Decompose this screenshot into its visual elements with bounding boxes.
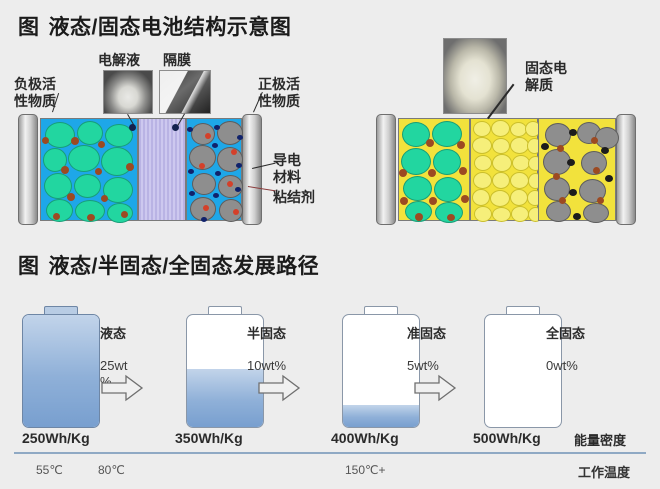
electrolyte-label: 电解液 xyxy=(98,52,140,69)
liquid-cell-diagram xyxy=(18,118,263,221)
battery-name: 液态 xyxy=(100,326,144,342)
temperature-value-1: 55℃ xyxy=(36,463,63,477)
solid-anode-current-collector xyxy=(376,114,396,225)
binder-label: 粘结剂 xyxy=(273,189,315,206)
battery-shell xyxy=(22,314,100,428)
section2-title: 图液态/半固态/全固态发展路径 xyxy=(18,250,319,280)
solid-electrolyte-label: 固态电 解质 xyxy=(525,60,567,94)
section1-title-text: 液态/固态电池结构示意图 xyxy=(49,16,292,39)
arrow-right-icon xyxy=(257,374,301,402)
battery-fill xyxy=(343,405,419,427)
energy-density-value-4: 500Wh/Kg xyxy=(473,430,541,446)
energy-density-value-3: 400Wh/Kg xyxy=(331,430,399,446)
anode-label: 负极活 性物质 xyxy=(14,76,56,110)
battery-name: 半固态 xyxy=(247,326,317,342)
energy-density-value-1: 250Wh/Kg xyxy=(22,430,90,446)
temperature-value-3: 150℃+ xyxy=(345,463,386,477)
temperature-value-2: 80℃ xyxy=(98,463,125,477)
solid-cathode-region xyxy=(538,118,616,221)
section2-title-mark: 图 xyxy=(18,250,40,280)
cathode-current-collector xyxy=(242,114,262,225)
battery-weight: 5wt% xyxy=(407,358,439,373)
battery-label-all-solid: 全固态 0wt% xyxy=(546,310,616,374)
energy-density-value-2: 350Wh/Kg xyxy=(175,430,243,446)
anode-current-collector xyxy=(18,114,38,225)
separator-label: 隔膜 xyxy=(163,52,191,69)
temperature-axis-title: 工作温度 xyxy=(578,462,630,481)
arrow-right-icon xyxy=(413,374,457,402)
solid-electrolyte-region xyxy=(470,118,538,221)
conductive-material-label: 导电 材料 xyxy=(273,152,301,186)
cathode-label: 正极活 性物质 xyxy=(258,76,300,110)
battery-name: 准固态 xyxy=(407,326,477,342)
battery-weight: 10wt% xyxy=(247,358,286,373)
arrow-right-icon xyxy=(100,374,144,402)
axis-divider xyxy=(14,452,646,454)
solid-cell-diagram xyxy=(376,118,638,221)
battery-label-quasi-solid: 准固态 5wt% xyxy=(407,310,477,374)
battery-weight: 0wt% xyxy=(546,358,578,373)
battery-fill xyxy=(187,369,263,427)
section1-title: 图液态/固态电池结构示意图 xyxy=(18,11,291,41)
liquid-anode-region xyxy=(40,118,138,221)
electrolyte-leader-dot xyxy=(129,124,136,131)
energy-density-axis-title: 能量密度 xyxy=(574,430,626,449)
solid-cathode-current-collector xyxy=(616,114,636,225)
battery-fill xyxy=(23,315,99,427)
battery-label-semi-solid: 半固态 10wt% xyxy=(247,310,317,374)
separator-photo xyxy=(159,70,211,114)
infographic-page: 图液态/固态电池结构示意图 xyxy=(0,0,660,489)
liquid-cathode-region xyxy=(186,118,242,221)
battery-name: 全固态 xyxy=(546,326,616,342)
separator-leader-dot xyxy=(172,124,179,131)
electrolyte-photo xyxy=(103,70,153,114)
separator-region xyxy=(138,118,186,221)
solid-anode-region xyxy=(398,118,470,221)
section1-title-mark: 图 xyxy=(18,11,40,41)
section2-title-text: 液态/半固态/全固态发展路径 xyxy=(49,255,320,278)
